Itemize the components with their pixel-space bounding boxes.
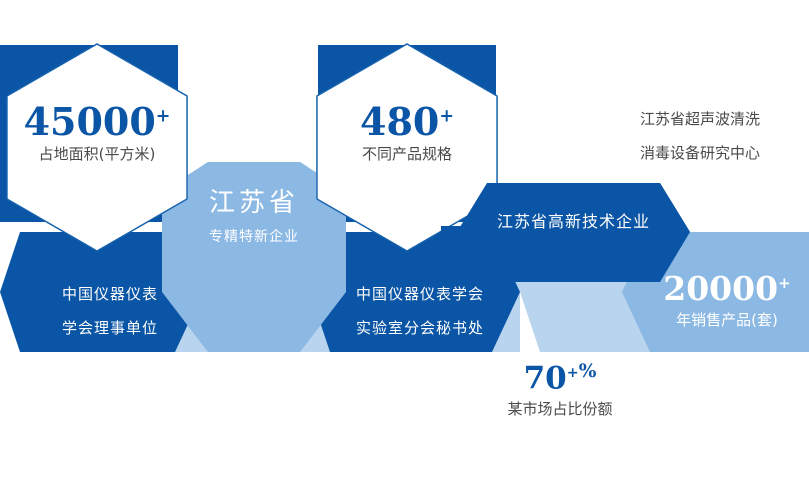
cis-council-line1: 中国仪器仪表: [20, 287, 200, 302]
percent-unit: %: [579, 361, 597, 382]
plus-suffix: +: [156, 106, 171, 126]
province-sme-subtitle: 专精特新企业: [162, 230, 346, 244]
stat-specs-value: 480+: [317, 103, 497, 141]
plus-suffix: +: [439, 106, 454, 126]
province-sme-title: 江苏省: [162, 190, 346, 216]
stat-area-value: 45000+: [7, 103, 187, 141]
cis-council-line2: 学会理事单位: [20, 321, 200, 336]
research-center-line2: 消毒设备研究中心: [640, 146, 809, 161]
stat-market-share-value: 70+%: [470, 363, 650, 394]
lab-branch-line1: 中国仪器仪表学会: [325, 287, 515, 302]
plus-suffix: +: [567, 365, 579, 381]
stat-market-share-caption: 某市场占比份额: [470, 402, 650, 417]
hexagon-hightech-banner-top: [457, 183, 690, 282]
infographic-canvas: 45000+ 占地面积(平方米) 江苏省 专精特新企业 480+ 不同产品规格 …: [0, 0, 809, 487]
lab-branch-line2: 实验室分会秘书处: [325, 321, 515, 336]
stat-area-caption: 占地面积(平方米): [7, 147, 187, 162]
stat-specs-caption: 不同产品规格: [317, 147, 497, 162]
shape-layer: [0, 0, 809, 487]
plus-suffix: +: [778, 274, 791, 292]
hightech-label: 江苏省高新技术企业: [457, 214, 690, 230]
stat-annual-sales-caption: 年销售产品(套): [645, 313, 809, 328]
research-center-line1: 江苏省超声波清洗: [640, 112, 809, 127]
stat-annual-sales-value: 20000+: [645, 272, 809, 305]
